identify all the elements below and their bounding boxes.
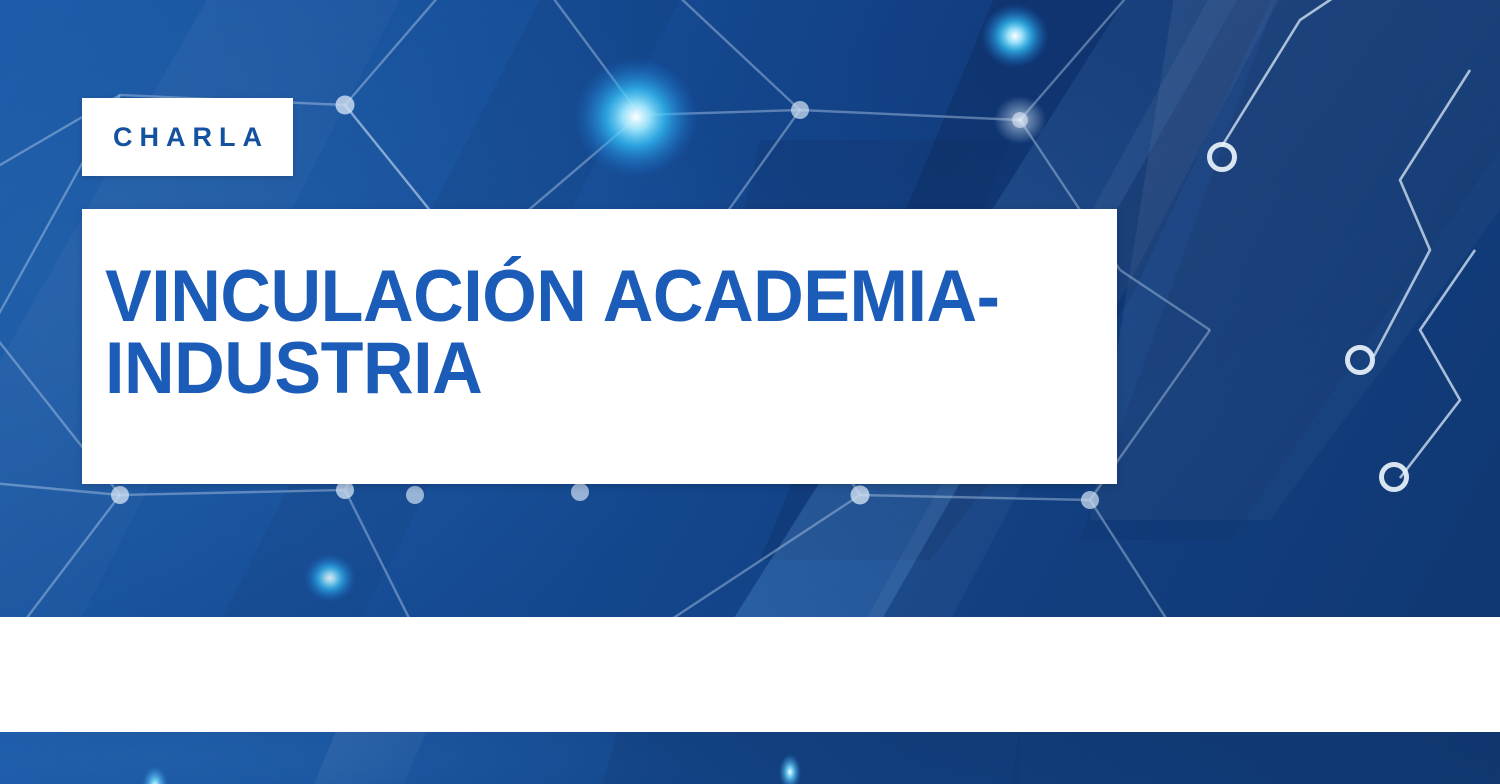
hero-background-panel: CHARLA VINCULACIÓN ACADEMIA- INDUSTRIA [0,0,1500,617]
category-tag: CHARLA [82,98,293,176]
title-card: VINCULACIÓN ACADEMIA- INDUSTRIA [82,209,1117,484]
bottom-accent-band [0,732,1500,784]
page-title: VINCULACIÓN ACADEMIA- INDUSTRIA [105,261,1055,406]
bottom-band-decoration [0,732,1500,784]
slide-canvas: CHARLA VINCULACIÓN ACADEMIA- INDUSTRIA [0,0,1500,784]
footer-strip: DEPARTAMENTO DE INGENIERÍA ELÉCTRICA UNI… [0,617,1500,731]
category-tag-label: CHARLA [106,124,269,151]
